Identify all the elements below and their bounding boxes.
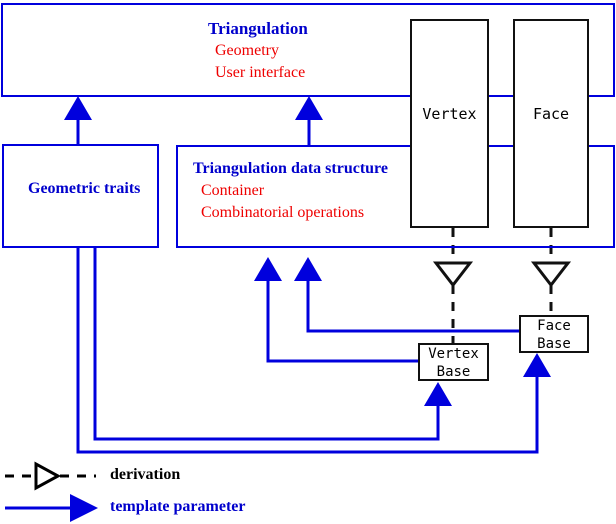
class-face-label: Face [513,105,589,124]
package-tds-item-combinatorial-operations: Combinatorial operations [201,204,364,222]
legend-template-parameter-glyph [5,494,98,522]
package-triangulation-item-user-interface: User interface [215,64,305,82]
class-face-base-label: Face Base [519,318,589,353]
package-triangulation-title: Triangulation [208,19,308,39]
arrow-vertex-base-to-tds [254,257,418,361]
legend-derivation-glyph [5,464,96,488]
package-tds-title: Triangulation data structure [193,160,388,178]
package-geometric-traits-title: Geometric traits [28,180,140,198]
arrow-face-base-to-tds [294,257,519,331]
package-triangulation-item-geometry: Geometry [215,42,279,60]
package-tds-item-container: Container [201,182,264,200]
class-vertex-label: Vertex [410,105,489,124]
arrow-geometric-traits-to-triangulation [64,96,92,144]
legend-label-derivation: derivation [110,466,180,484]
legend-label-template-parameter: template parameter [110,498,246,516]
class-vertex-base-label: Vertex Base [418,346,489,381]
arrow-geometric-traits-to-vertex-base [95,248,452,439]
arrow-tds-to-triangulation [295,96,323,145]
class-design-diagram: Triangulation Geometry User interface Ge… [0,0,616,524]
